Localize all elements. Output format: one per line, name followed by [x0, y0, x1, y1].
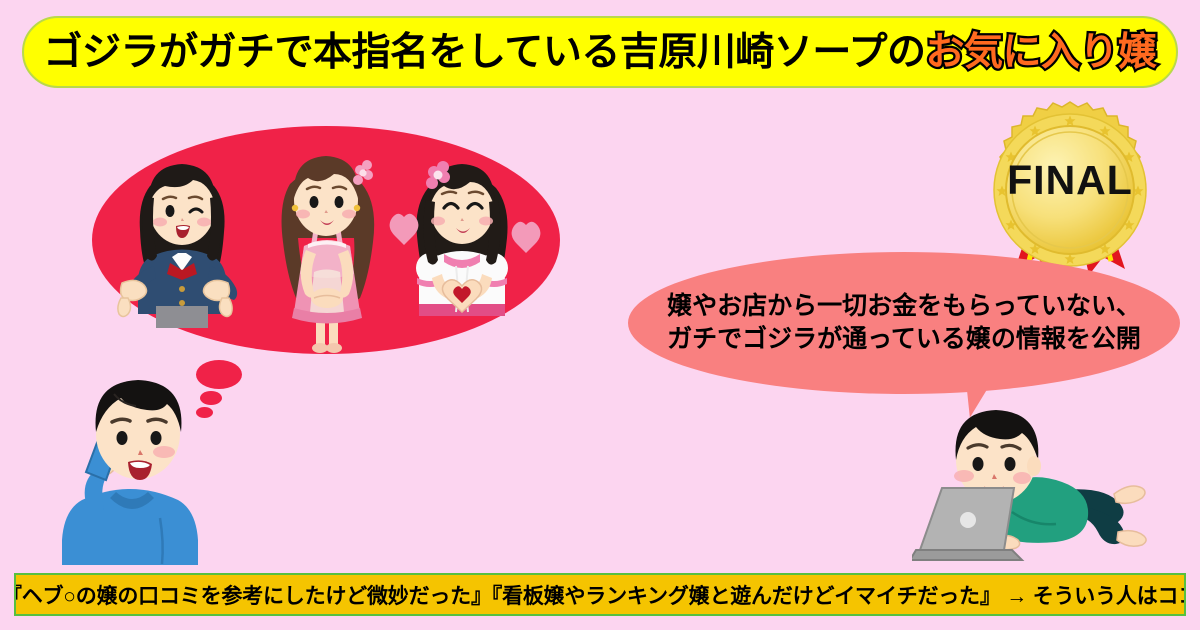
- bottom-caption-bar: 『ヘブ○の嬢の口コミを参考にしたけど微妙だった』『看板嬢やランキング嬢と遊んだけ…: [14, 573, 1186, 616]
- speech-bubble-line-2: ガチでゴジラが通っている嬢の情報を公開: [667, 323, 1141, 357]
- man-with-laptop-illustration: [912, 408, 1177, 563]
- badge-label: FINAL: [975, 157, 1165, 204]
- hair-flower: [353, 160, 373, 185]
- bottom-caption-text: 『ヘブ○の嬢の口コミを参考にしたけど微妙だった』『看板嬢やランキング嬢と遊んだけ…: [14, 580, 1186, 610]
- poster-canvas: ゴジラがガチで本指名をしている吉原川崎ソープのお気に入り嬢: [0, 0, 1200, 630]
- title-accent-text: お気に入り嬢: [925, 33, 1156, 72]
- title-text: ゴジラがガチで本指名をしている吉原川崎ソープのお気に入り嬢: [43, 33, 1156, 72]
- speech-bubble: 嬢やお店から一切お金をもらっていない、 ガチでゴジラが通っている嬢の情報を公開: [628, 252, 1180, 394]
- laptop-icon: [912, 488, 1022, 560]
- speech-bubble-line-1: 嬢やお店から一切お金をもらっていない、: [667, 290, 1141, 324]
- title-main-text: ゴジラがガチで本指名をしている吉原川崎ソープの: [43, 33, 925, 72]
- woman-pink-dress-illustration: [282, 156, 375, 353]
- three-women-illustration: [92, 126, 560, 354]
- man-on-phone-illustration: [52, 360, 242, 565]
- woman-student-illustration: [118, 164, 237, 328]
- woman-heart-hands-illustration: [416, 161, 508, 316]
- title-banner: ゴジラがガチで本指名をしている吉原川崎ソープのお気に入り嬢: [22, 16, 1178, 88]
